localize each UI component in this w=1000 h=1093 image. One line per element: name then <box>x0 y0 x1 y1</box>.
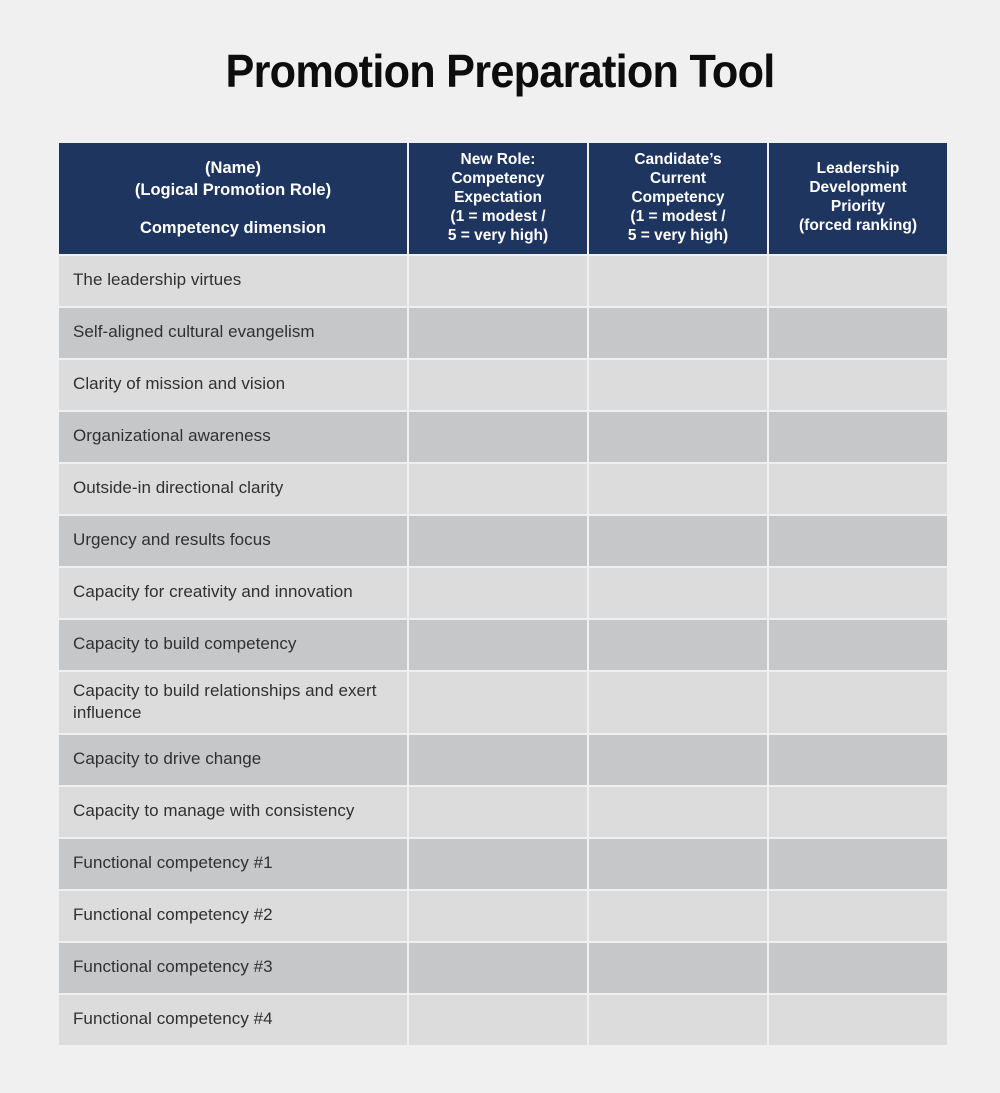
cell-competency-dimension: Capacity to manage with consistency <box>59 787 407 837</box>
cell-candidate-current-competency[interactable] <box>589 308 767 358</box>
cell-leadership-development-priority[interactable] <box>769 412 947 462</box>
table-row: Functional competency #1 <box>59 839 947 889</box>
cell-candidate-current-competency[interactable] <box>589 568 767 618</box>
cell-competency-dimension: Organizational awareness <box>59 412 407 462</box>
cell-leadership-development-priority[interactable] <box>769 735 947 785</box>
cell-new-role-expectation[interactable] <box>409 360 587 410</box>
cell-leadership-development-priority[interactable] <box>769 256 947 306</box>
cell-new-role-expectation[interactable] <box>409 839 587 889</box>
header-line: (1 = modest / <box>595 208 761 227</box>
table-row: Outside-in directional clarity <box>59 464 947 514</box>
cell-leadership-development-priority[interactable] <box>769 620 947 670</box>
cell-competency-dimension: Functional competency #1 <box>59 839 407 889</box>
cell-competency-dimension: Capacity for creativity and innovation <box>59 568 407 618</box>
cell-candidate-current-competency[interactable] <box>589 516 767 566</box>
cell-leadership-development-priority[interactable] <box>769 360 947 410</box>
cell-competency-dimension: Functional competency #4 <box>59 995 407 1045</box>
header-name-line: (Name) <box>65 157 401 179</box>
cell-new-role-expectation[interactable] <box>409 620 587 670</box>
cell-competency-dimension: Self-aligned cultural evangelism <box>59 308 407 358</box>
cell-competency-dimension: Urgency and results focus <box>59 516 407 566</box>
cell-competency-dimension: Functional competency #2 <box>59 891 407 941</box>
cell-leadership-development-priority[interactable] <box>769 672 947 733</box>
column-header-competency-dimension: (Name) (Logical Promotion Role) Competen… <box>59 143 407 254</box>
column-header-leadership-development-priority: Leadership Development Priority (forced … <box>769 143 947 254</box>
header-line: Current <box>595 170 761 189</box>
cell-candidate-current-competency[interactable] <box>589 620 767 670</box>
header-spacer <box>65 201 401 217</box>
header-line: Competency <box>595 189 761 208</box>
table-row: Capacity to build relationships and exer… <box>59 672 947 733</box>
table-row: Functional competency #2 <box>59 891 947 941</box>
cell-new-role-expectation[interactable] <box>409 891 587 941</box>
competency-table-wrapper: (Name) (Logical Promotion Role) Competen… <box>59 143 941 1045</box>
cell-competency-dimension: Capacity to build relationships and exer… <box>59 672 407 733</box>
cell-new-role-expectation[interactable] <box>409 735 587 785</box>
cell-leadership-development-priority[interactable] <box>769 308 947 358</box>
cell-new-role-expectation[interactable] <box>409 256 587 306</box>
cell-new-role-expectation[interactable] <box>409 464 587 514</box>
cell-candidate-current-competency[interactable] <box>589 735 767 785</box>
cell-new-role-expectation[interactable] <box>409 995 587 1045</box>
cell-new-role-expectation[interactable] <box>409 568 587 618</box>
cell-leadership-development-priority[interactable] <box>769 464 947 514</box>
header-line: 5 = very high) <box>595 227 761 246</box>
header-row: (Name) (Logical Promotion Role) Competen… <box>59 143 947 254</box>
table-row: Self-aligned cultural evangelism <box>59 308 947 358</box>
header-line: Leadership <box>775 160 941 179</box>
cell-candidate-current-competency[interactable] <box>589 943 767 993</box>
header-line: (1 = modest / <box>415 208 581 227</box>
cell-candidate-current-competency[interactable] <box>589 412 767 462</box>
cell-new-role-expectation[interactable] <box>409 412 587 462</box>
cell-new-role-expectation[interactable] <box>409 516 587 566</box>
header-line: (forced ranking) <box>775 217 941 236</box>
cell-new-role-expectation[interactable] <box>409 672 587 733</box>
table-row: Functional competency #3 <box>59 943 947 993</box>
cell-leadership-development-priority[interactable] <box>769 891 947 941</box>
cell-leadership-development-priority[interactable] <box>769 568 947 618</box>
cell-leadership-development-priority[interactable] <box>769 943 947 993</box>
cell-competency-dimension: Outside-in directional clarity <box>59 464 407 514</box>
cell-new-role-expectation[interactable] <box>409 943 587 993</box>
header-dimension-line: Competency dimension <box>65 217 401 239</box>
cell-candidate-current-competency[interactable] <box>589 839 767 889</box>
cell-competency-dimension: The leadership virtues <box>59 256 407 306</box>
cell-candidate-current-competency[interactable] <box>589 995 767 1045</box>
cell-candidate-current-competency[interactable] <box>589 464 767 514</box>
cell-candidate-current-competency[interactable] <box>589 891 767 941</box>
cell-competency-dimension: Capacity to drive change <box>59 735 407 785</box>
table-row: Functional competency #4 <box>59 995 947 1045</box>
cell-leadership-development-priority[interactable] <box>769 839 947 889</box>
cell-leadership-development-priority[interactable] <box>769 787 947 837</box>
cell-new-role-expectation[interactable] <box>409 308 587 358</box>
header-line: Priority <box>775 198 941 217</box>
cell-competency-dimension: Functional competency #3 <box>59 943 407 993</box>
cell-candidate-current-competency[interactable] <box>589 787 767 837</box>
table-row: Organizational awareness <box>59 412 947 462</box>
table-row: Capacity for creativity and innovation <box>59 568 947 618</box>
competency-table: (Name) (Logical Promotion Role) Competen… <box>57 141 949 1047</box>
header-role-line: (Logical Promotion Role) <box>65 179 401 201</box>
header-line: New Role: <box>415 151 581 170</box>
cell-competency-dimension: Capacity to build competency <box>59 620 407 670</box>
header-line: Candidate’s <box>595 151 761 170</box>
cell-leadership-development-priority[interactable] <box>769 516 947 566</box>
promotion-preparation-tool-page: Promotion Preparation Tool (Name) (Logic… <box>0 0 1000 1093</box>
cell-competency-dimension: Clarity of mission and vision <box>59 360 407 410</box>
header-line: Development <box>775 179 941 198</box>
table-row: Urgency and results focus <box>59 516 947 566</box>
column-header-new-role-expectation: New Role: Competency Expectation (1 = mo… <box>409 143 587 254</box>
cell-leadership-development-priority[interactable] <box>769 995 947 1045</box>
cell-new-role-expectation[interactable] <box>409 787 587 837</box>
table-row: Capacity to drive change <box>59 735 947 785</box>
table-body: The leadership virtuesSelf-aligned cultu… <box>59 256 947 1045</box>
cell-candidate-current-competency[interactable] <box>589 360 767 410</box>
page-title: Promotion Preparation Tool <box>30 44 970 98</box>
table-row: Capacity to manage with consistency <box>59 787 947 837</box>
header-line: Expectation <box>415 189 581 208</box>
table-header: (Name) (Logical Promotion Role) Competen… <box>59 143 947 254</box>
header-line: Competency <box>415 170 581 189</box>
cell-candidate-current-competency[interactable] <box>589 256 767 306</box>
cell-candidate-current-competency[interactable] <box>589 672 767 733</box>
header-line: 5 = very high) <box>415 227 581 246</box>
table-row: The leadership virtues <box>59 256 947 306</box>
table-row: Clarity of mission and vision <box>59 360 947 410</box>
column-header-candidate-current-competency: Candidate’s Current Competency (1 = mode… <box>589 143 767 254</box>
table-row: Capacity to build competency <box>59 620 947 670</box>
